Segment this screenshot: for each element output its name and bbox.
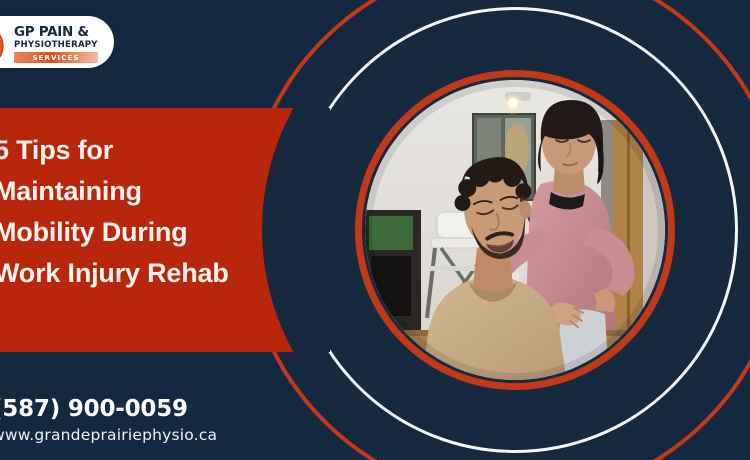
headline-line-3: Mobility During: [0, 212, 284, 253]
brand-name-line-3: SERVICES: [33, 54, 80, 62]
brand-name-line-2: PHYSIOTHERAPY: [14, 39, 110, 51]
phone-number[interactable]: (587) 900-0059: [0, 395, 292, 423]
brand-name-line-1: GP PAIN &: [14, 25, 110, 39]
contact-block: (587) 900-0059 www.grandeprairiephysio.c…: [0, 395, 292, 446]
treatment-photo: [365, 80, 665, 380]
promo-banner: 5 Tips for Maintaining Mobility During W…: [0, 0, 750, 460]
headline-line-4: Work Injury Rehab: [0, 253, 284, 294]
headline-line-2: Maintaining: [0, 171, 284, 212]
gp-swoosh-mark-icon: [0, 24, 4, 68]
headline-text: 5 Tips for Maintaining Mobility During W…: [0, 130, 284, 294]
treatment-photo-illustration: [365, 80, 665, 380]
website-url[interactable]: www.grandeprairiephysio.ca: [0, 424, 292, 446]
brand-logo-text: GP PAIN & PHYSIOTHERAPY SERVICES: [14, 25, 110, 63]
brand-logo[interactable]: GP PAIN & PHYSIOTHERAPY SERVICES: [0, 16, 114, 68]
headline-line-1: 5 Tips for: [0, 130, 284, 171]
brand-services-band: SERVICES: [14, 52, 98, 63]
